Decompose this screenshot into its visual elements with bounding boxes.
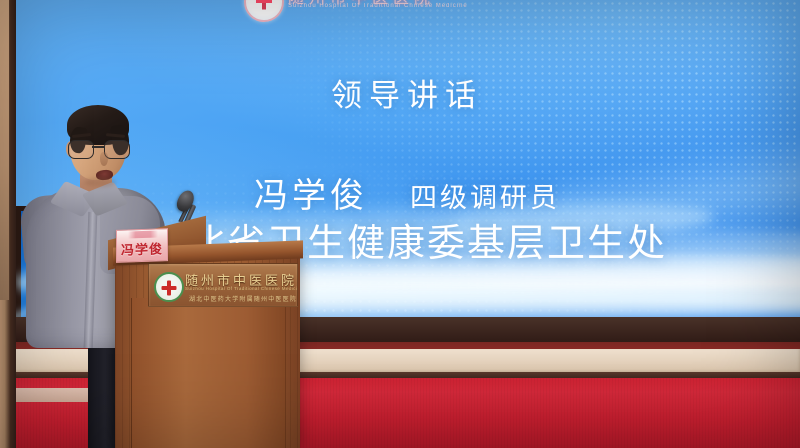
hospital-cross-emblem-icon	[154, 272, 184, 302]
screen-title: 领导讲话	[14, 70, 800, 115]
speaker-chin-shadow	[84, 178, 116, 187]
podium-front-panel	[131, 298, 286, 448]
glasses-icon	[68, 140, 128, 157]
plaque-english: Suizhou Hospital Of Traditional Chinese …	[185, 286, 298, 291]
glasses-bridge	[92, 146, 104, 148]
hospital-logo-icon	[244, 0, 284, 22]
speaker-nose	[100, 152, 108, 166]
screen-speaker-name: 冯学俊	[254, 177, 368, 215]
name-card-header-logo	[128, 230, 158, 238]
plaque-subtitle: 湖北中医药大学附属随州中医医院	[189, 294, 297, 303]
glasses-lens-left	[68, 140, 94, 159]
screen-top-banner: 随州市中医医院 Suizhou Hospital Of Traditional …	[236, 0, 486, 22]
screen-speaker-role: 四级调研员	[410, 183, 560, 213]
name-card-name: 冯学俊	[117, 238, 167, 259]
left-wall-light-strip	[0, 0, 9, 300]
banner-subtitle: Suizhou Hospital Of Traditional Chinese …	[288, 3, 468, 9]
podium-plaque: 随州市中医医院 Suizhou Hospital Of Traditional …	[148, 263, 298, 307]
desk-name-card: 冯学俊	[116, 228, 168, 263]
speaker-hair	[67, 105, 129, 145]
photo-scene: 随州市中医医院 Suizhou Hospital Of Traditional …	[0, 0, 800, 448]
